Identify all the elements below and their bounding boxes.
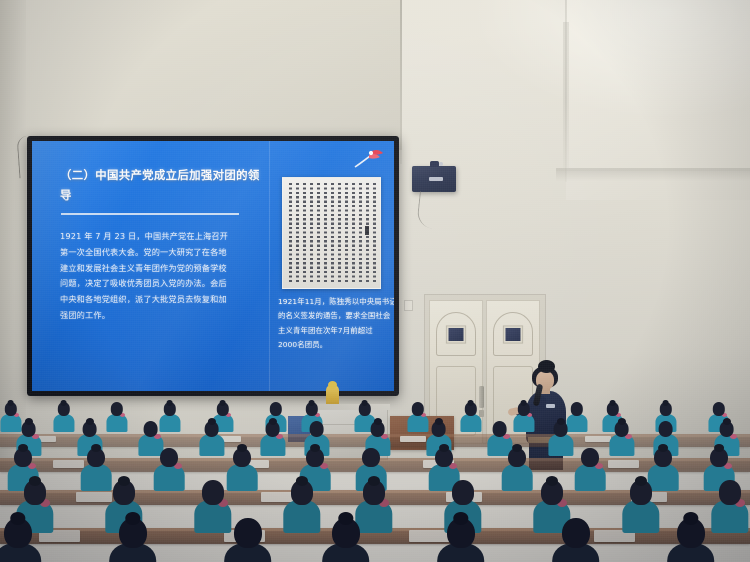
audience-head [160, 448, 178, 468]
audience-member [106, 400, 127, 432]
audience-head [269, 402, 281, 416]
hair-bun [609, 400, 616, 406]
audience-member [407, 400, 428, 432]
red-ribbon-logo-icon [352, 148, 386, 172]
document-seal-mark [365, 226, 369, 235]
hair-bun [453, 512, 468, 525]
hair-bun [723, 418, 731, 425]
audience-uniform [227, 464, 258, 491]
audience-member [154, 444, 185, 491]
audience-member [260, 418, 285, 456]
audience-head [110, 402, 122, 416]
hair-bun [683, 512, 698, 525]
hair-bun [7, 400, 14, 406]
slide-body-line-3: 问题，决定了吸收优秀团员入党的办法。会后 [60, 276, 260, 292]
hair-bun [18, 444, 28, 452]
historical-document-photo [282, 177, 381, 289]
audience-member [667, 512, 715, 562]
hair-bun [166, 400, 173, 406]
light-switch-plate [404, 300, 413, 311]
audience-head [712, 402, 724, 416]
audience-member [0, 512, 42, 562]
notebook-page [53, 460, 84, 468]
audience-member [552, 512, 600, 562]
slide-body-line-1: 第一次全国代表大会。党的一大研究了在各地 [60, 245, 260, 261]
hair-bun [714, 444, 724, 452]
slide-image-pane: 1921年11月，陈独秀以中央局书记的名义签发的通告，要求全国社会主义青年团在次… [270, 141, 394, 391]
slide-body-line-2: 建立和发展社会主义青年团作为党的预备学校 [60, 261, 260, 277]
audience-head [234, 518, 262, 549]
slide-body-line-4: 中央和各地党组织，派了大批党员去恢复和加 [60, 292, 260, 308]
hair-bun [467, 400, 474, 406]
hair-bun [29, 476, 41, 486]
slide-body-line-0: 1921 年 7 月 23 日，中国共产党在上海召开 [60, 229, 260, 245]
slide-title: （二）中国共产党成立后加强对团的领导 [60, 166, 260, 205]
upper-left-wall-panel [0, 0, 402, 150]
presentation-screen[interactable]: （二）中国共产党成立后加强对团的领导 1921 年 7 月 23 日，中国共产党… [32, 141, 394, 391]
audience-member [437, 512, 485, 562]
notebook-page [400, 436, 426, 442]
audience-uniform [53, 414, 74, 433]
audience-head [719, 480, 741, 504]
hair-bun [296, 476, 308, 486]
audience-head [143, 421, 158, 437]
audience-member [575, 444, 606, 491]
audience-member [460, 400, 481, 432]
ceiling-light-glow [470, 0, 750, 120]
slide-text-pane: （二）中国共产党成立后加强对团的领导 1921 年 7 月 23 日，中国共产党… [32, 141, 270, 391]
hair-bun [520, 400, 527, 406]
audience-uniform [622, 500, 659, 533]
device-label-plate [429, 177, 443, 181]
hair-bun [435, 418, 443, 425]
document-caption: 1921年11月，陈独秀以中央局书记的名义签发的通告，要求全国社会主义青年团在次… [278, 295, 386, 353]
hair-bun [662, 400, 669, 406]
audience-uniform [502, 464, 533, 491]
audience-member [109, 512, 157, 562]
notebook-page [585, 436, 611, 442]
caption-line-3: 2000名团员。 [278, 338, 386, 352]
hair-bun [60, 400, 67, 406]
audience-head [562, 518, 590, 549]
audience-head [411, 402, 423, 416]
hair-bun [219, 400, 226, 406]
hair-bun [635, 476, 647, 486]
notebook-page [608, 460, 639, 468]
audience-member [283, 476, 320, 533]
hair-bun [310, 444, 320, 452]
caption-line-1: 的名义签发的通告，要求全国社会 [278, 309, 386, 323]
audience-member [227, 444, 258, 491]
audience-member [322, 512, 370, 562]
audience-head [452, 480, 474, 504]
caption-line-2: 主义青年团在次年7月前超过 [278, 324, 386, 338]
audience-uniform [460, 414, 481, 433]
door-window [506, 328, 521, 341]
hair-bun [512, 444, 522, 452]
audience-seating [0, 372, 750, 562]
device-indicator [439, 162, 443, 166]
hair-bun [125, 512, 140, 525]
hair-bun [208, 418, 216, 425]
slide-body-line-5: 强团的工作。 [60, 308, 260, 324]
hair-bun [658, 444, 668, 452]
audience-member [609, 418, 634, 456]
hair-bun [25, 418, 33, 425]
audience-uniform [283, 500, 320, 533]
audience-head [309, 421, 324, 437]
lecture-hall-photo: （二）中国共产党成立后加强对团的领导 1921 年 7 月 23 日，中国共产党… [0, 0, 750, 562]
audience-member [513, 400, 534, 432]
door-window [449, 328, 464, 341]
hair-bun [118, 476, 130, 486]
hair-bun [91, 444, 101, 452]
audience-member [548, 418, 573, 456]
soffit-shadow [556, 171, 750, 181]
projector-speaker-icon [412, 166, 456, 192]
hair-bun [374, 418, 382, 425]
audience-member [53, 400, 74, 432]
hair-bun [546, 476, 558, 486]
hair-bun [86, 418, 94, 425]
audience-uniform [199, 434, 224, 456]
caption-line-0: 1921年11月，陈独秀以中央局书记 [278, 295, 386, 309]
audience-head [362, 448, 380, 468]
hair-bun [237, 444, 247, 452]
audience-uniform [548, 434, 573, 456]
hair-bun [557, 418, 565, 425]
audience-head [202, 480, 224, 504]
hair-bun [361, 400, 368, 406]
title-underline-rule [61, 213, 239, 215]
audience-head [492, 421, 507, 437]
hair-bun [618, 418, 626, 425]
hair-bun [368, 476, 380, 486]
hair-bun [269, 418, 277, 425]
hair-bun [10, 512, 25, 525]
audience-head [658, 421, 673, 437]
audience-head [581, 448, 599, 468]
audience-member [224, 512, 272, 562]
hair-bun [338, 512, 353, 525]
led-display-bezel: （二）中国共产党成立后加强对团的领导 1921 年 7 月 23 日，中国共产党… [27, 136, 399, 396]
slide-body-text: 1921 年 7 月 23 日，中国共产党在上海召开第一次全国代表大会。党的一大… [60, 229, 260, 324]
audience-member [502, 444, 533, 491]
audience-member [711, 476, 748, 533]
wall-seam-left [400, 0, 402, 164]
audience-member [199, 418, 224, 456]
audience-member [622, 476, 659, 533]
audience-head [570, 402, 582, 416]
device-lens [430, 161, 439, 167]
hair-bun [308, 400, 315, 406]
hair-bun [439, 444, 449, 452]
